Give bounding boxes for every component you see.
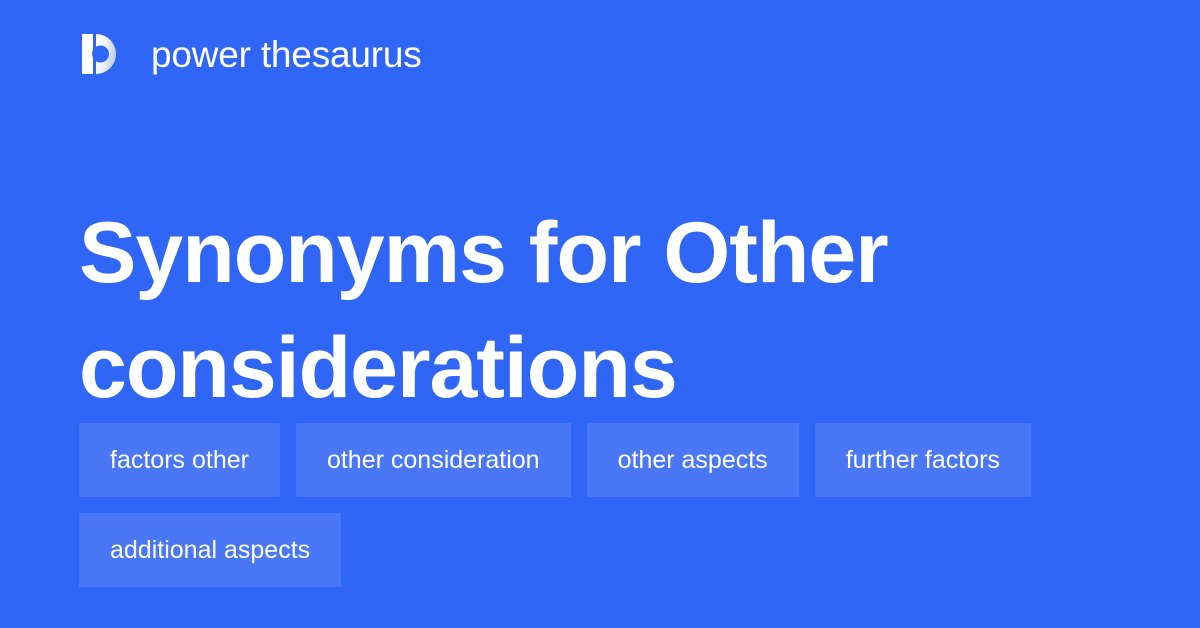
synonym-chip[interactable]: other aspects: [587, 423, 799, 497]
synonym-chip[interactable]: further factors: [815, 423, 1031, 497]
page-title-line-2: considerations: [79, 311, 1119, 426]
share-card: power thesaurus Synonyms for Other consi…: [0, 0, 1200, 628]
synonym-chip[interactable]: additional aspects: [79, 513, 341, 587]
brand-name: power thesaurus: [151, 36, 422, 73]
page-title: Synonyms for Other considerations: [79, 196, 1119, 426]
power-thesaurus-b-logo-icon: [79, 30, 127, 78]
synonym-chip-list: factors other other consideration other …: [79, 423, 1129, 587]
synonym-chip[interactable]: factors other: [79, 423, 280, 497]
page-title-line-1: Synonyms for Other: [79, 196, 1119, 311]
synonym-chip[interactable]: other consideration: [296, 423, 571, 497]
brand-header[interactable]: power thesaurus: [79, 30, 422, 78]
